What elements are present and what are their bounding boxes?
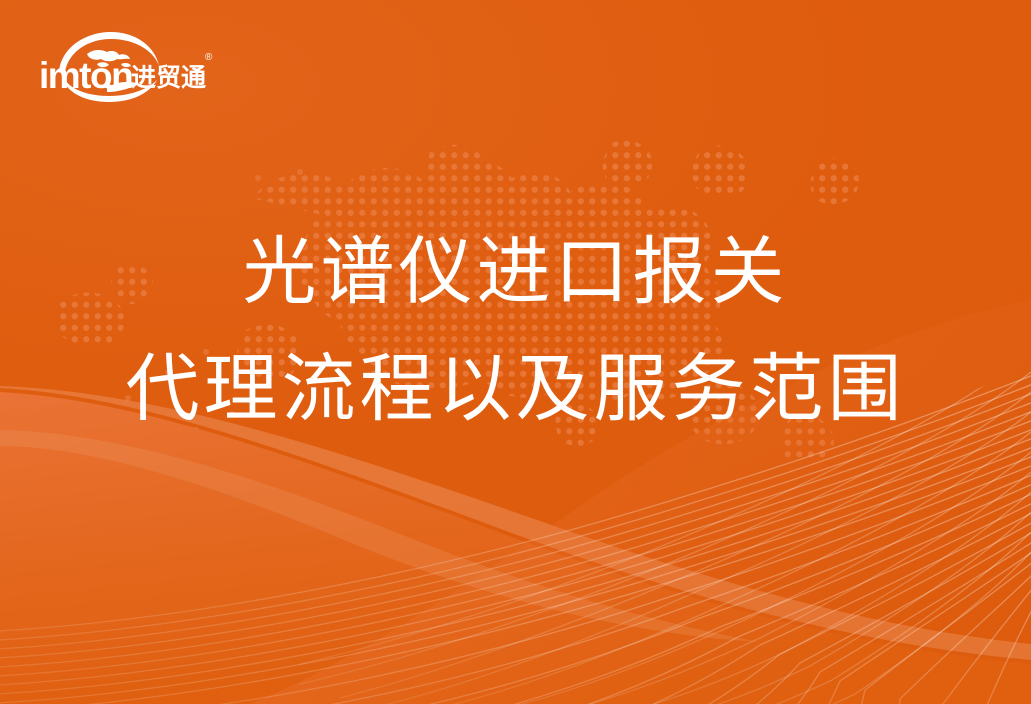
logo-latin-text: imton — [39, 55, 132, 96]
trademark-symbol: ® — [205, 52, 213, 63]
logo-chinese-text: 进贸通 — [131, 64, 206, 92]
page-title: 光谱仪进口报关 代理流程以及服务范围 — [0, 236, 1031, 429]
promo-banner: imton 进贸通 ® imton 进贸通 ® 光谱仪进口报关 代理流程以及服务… — [0, 0, 1031, 704]
title-line-2: 代理流程以及服务范围 — [0, 353, 1031, 428]
brand-logo[interactable]: imton 进贸通 ® imton 进贸通 ® — [37, 22, 217, 106]
title-line-1: 光谱仪进口报关 — [0, 236, 1031, 311]
